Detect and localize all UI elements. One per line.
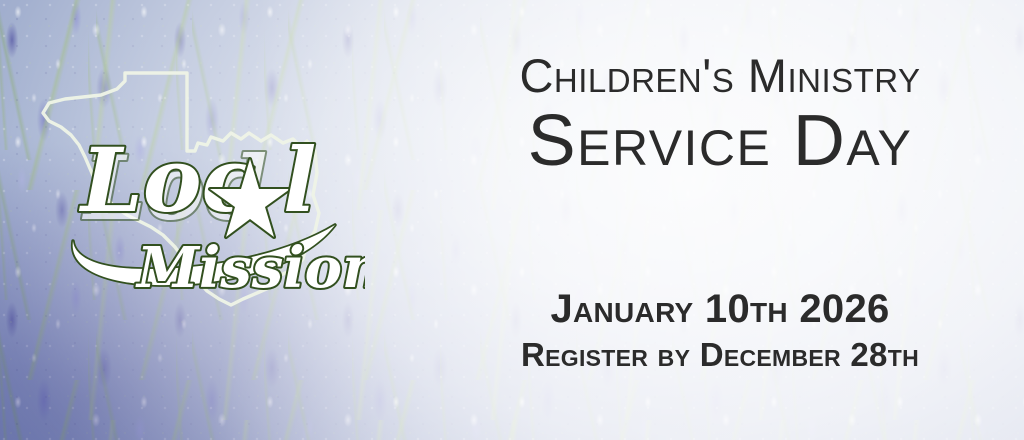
headline-line-2: Service Day <box>470 105 970 178</box>
event-date: January 10th 2026 <box>470 288 970 330</box>
logo-script-missions: Missions <box>135 235 365 301</box>
event-banner: Loc l Loc l Missions Children's Ministry… <box>0 0 1024 440</box>
headline-block: Children's Ministry Service Day <box>470 52 970 178</box>
headline-line-1: Children's Ministry <box>470 52 970 99</box>
registration-deadline: Register by December 28th <box>470 338 970 373</box>
local-missions-logo: Loc l Loc l Missions <box>35 55 365 325</box>
date-block: January 10th 2026 Register by December 2… <box>470 288 970 373</box>
logo-script-local-part2: l <box>283 128 316 232</box>
logo-script-local-part1: Loc <box>78 128 255 232</box>
